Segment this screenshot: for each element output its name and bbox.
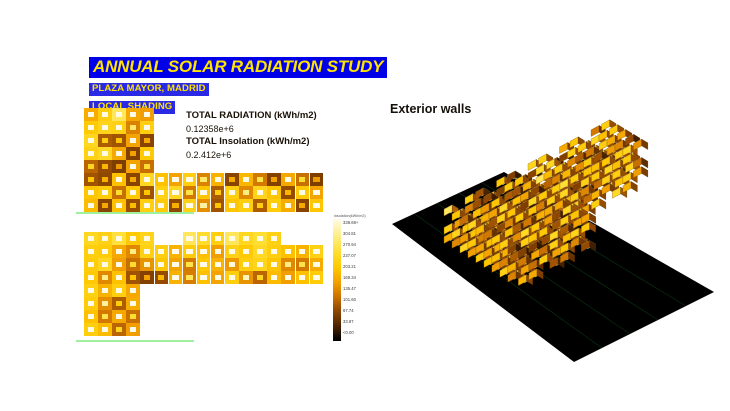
radiation-cell: [126, 232, 140, 245]
window-aperture: [186, 177, 192, 182]
window-aperture: [285, 203, 291, 208]
radiation-cell: [239, 199, 253, 212]
window-aperture: [102, 164, 108, 169]
window-aperture: [102, 177, 108, 182]
window-aperture: [200, 190, 206, 195]
radiation-cell: [84, 245, 98, 258]
window-aperture: [130, 249, 136, 254]
legend-tick-label: 270.94: [343, 243, 356, 247]
radiation-cell: [211, 186, 225, 199]
radiation-cell: [98, 160, 112, 173]
radiation-cell: [112, 297, 126, 310]
radiation-cell: [183, 199, 197, 212]
radiation-cell: [183, 258, 197, 271]
axonometric-canvas: [384, 96, 714, 366]
window-aperture: [116, 203, 122, 208]
window-aperture: [243, 177, 249, 182]
radiation-cell: [98, 258, 112, 271]
window-aperture: [257, 203, 263, 208]
window-aperture: [285, 190, 291, 195]
slide-canvas: ANNUAL SOLAR RADIATION STUDY PLAZA MAYOR…: [0, 0, 730, 411]
radiation-cell: [140, 258, 154, 271]
radiation-cell: [126, 121, 140, 134]
window-aperture: [285, 275, 291, 280]
window-aperture: [158, 275, 164, 280]
window-aperture: [88, 203, 94, 208]
window-aperture: [102, 275, 108, 280]
window-aperture: [116, 314, 122, 319]
radiation-cell: [98, 186, 112, 199]
window-aperture: [271, 177, 277, 182]
window-aperture: [102, 288, 108, 293]
radiation-cell: [126, 323, 140, 336]
radiation-cell: [112, 121, 126, 134]
radiation-cell: [112, 199, 126, 212]
window-aperture: [215, 190, 221, 195]
window-aperture: [257, 236, 263, 241]
window-aperture: [130, 262, 136, 267]
window-aperture: [88, 138, 94, 143]
radiation-cell: [98, 297, 112, 310]
radiation-cell: [225, 173, 239, 186]
window-aperture: [102, 203, 108, 208]
radiation-cell: [310, 173, 324, 186]
window-aperture: [130, 275, 136, 280]
radiation-cell: [140, 186, 154, 199]
radiation-cell: [310, 245, 324, 258]
window-aperture: [144, 164, 150, 169]
radiation-cell: [112, 147, 126, 160]
radiation-cell: [98, 310, 112, 323]
radiation-cell: [98, 323, 112, 336]
radiation-cell: [112, 173, 126, 186]
window-aperture: [116, 301, 122, 306]
radiation-cell: [84, 310, 98, 323]
window-aperture: [116, 275, 122, 280]
radiation-cell: [239, 258, 253, 271]
radiation-cell: [197, 258, 211, 271]
radiation-cell: [239, 245, 253, 258]
legend-tick-label: 135.47: [343, 287, 356, 291]
radiation-cell: [310, 271, 324, 284]
radiation-cell: [310, 199, 324, 212]
window-aperture: [144, 151, 150, 156]
radiation-cell: [84, 108, 98, 121]
radiation-cell: [211, 258, 225, 271]
radiation-cell: [225, 258, 239, 271]
window-aperture: [186, 236, 192, 241]
window-aperture: [116, 177, 122, 182]
radiation-cell: [126, 199, 140, 212]
window-aperture: [200, 236, 206, 241]
radiation-cell: [112, 108, 126, 121]
radiation-cell: [296, 258, 310, 271]
window-aperture: [172, 177, 178, 182]
radiation-cell: [296, 245, 310, 258]
window-aperture: [271, 190, 277, 195]
radiation-cell: [281, 245, 295, 258]
radiation-cell: [126, 310, 140, 323]
window-aperture: [313, 262, 319, 267]
radiation-cell: [253, 258, 267, 271]
legend-tick-label: 101.60: [343, 298, 356, 302]
radiation-cell: [267, 186, 281, 199]
radiation-cell: [225, 245, 239, 258]
window-aperture: [271, 249, 277, 254]
window-aperture: [285, 262, 291, 267]
radiation-cell: [98, 134, 112, 147]
radiation-cell: [197, 245, 211, 258]
window-aperture: [172, 249, 178, 254]
radiation-cell: [112, 232, 126, 245]
radiation-cell: [155, 173, 169, 186]
radiation-cell: [169, 258, 183, 271]
window-aperture: [158, 177, 164, 182]
radiation-cell: [84, 121, 98, 134]
radiation-cell: [169, 199, 183, 212]
window-aperture: [186, 203, 192, 208]
legend-tick-label: 169.34: [343, 276, 356, 280]
radiation-cell: [84, 258, 98, 271]
radiation-cell: [126, 186, 140, 199]
radiation-cell: [296, 173, 310, 186]
window-aperture: [285, 249, 291, 254]
axonometric-view: Exterior walls: [384, 96, 714, 366]
window-aperture: [243, 249, 249, 254]
window-aperture: [172, 275, 178, 280]
window-aperture: [130, 138, 136, 143]
radiation-cell: [155, 245, 169, 258]
legend-gradient-bar: [333, 219, 341, 341]
radiation-cell: [281, 271, 295, 284]
radiation-cell: [183, 271, 197, 284]
legend-title: insolation(kWh/m2): [334, 214, 379, 218]
window-aperture: [130, 327, 136, 332]
window-aperture: [144, 177, 150, 182]
legend-tick-label: 338.68+: [343, 221, 358, 225]
window-aperture: [229, 190, 235, 195]
radiation-cell: [126, 245, 140, 258]
radiation-cell: [140, 121, 154, 134]
legend-tick-label: 304.81: [343, 232, 356, 236]
window-aperture: [172, 203, 178, 208]
radiation-cell: [225, 271, 239, 284]
radiation-cell: [98, 147, 112, 160]
radiation-cell: [310, 258, 324, 271]
radiation-cell: [112, 310, 126, 323]
radiation-cell: [155, 186, 169, 199]
legend-tick-label: 67.74: [343, 309, 354, 313]
radiation-cell: [253, 199, 267, 212]
window-aperture: [116, 138, 122, 143]
radiation-cell: [126, 134, 140, 147]
window-aperture: [144, 112, 150, 117]
legend-tick-labels: 338.68+304.81270.94237.07203.21169.34135…: [341, 219, 377, 341]
radiation-cell: [126, 160, 140, 173]
radiation-cell: [126, 173, 140, 186]
legend-tick-label: 33.87: [343, 320, 354, 324]
window-aperture: [257, 177, 263, 182]
window-aperture: [200, 203, 206, 208]
window-aperture: [158, 190, 164, 195]
window-aperture: [116, 112, 122, 117]
radiation-cell: [140, 199, 154, 212]
window-aperture: [130, 164, 136, 169]
radiation-cell: [253, 232, 267, 245]
radiation-cell: [267, 232, 281, 245]
radiation-cell: [239, 186, 253, 199]
radiation-cell: [84, 323, 98, 336]
radiation-cell: [267, 258, 281, 271]
window-aperture: [172, 190, 178, 195]
radiation-cell: [267, 271, 281, 284]
window-aperture: [88, 177, 94, 182]
window-aperture: [313, 203, 319, 208]
radiation-cell: [140, 271, 154, 284]
window-aperture: [116, 327, 122, 332]
radiation-cell: [197, 271, 211, 284]
window-aperture: [130, 236, 136, 241]
window-aperture: [130, 151, 136, 156]
radiation-cell: [225, 186, 239, 199]
window-aperture: [200, 262, 206, 267]
window-aperture: [102, 190, 108, 195]
radiation-cell: [140, 232, 154, 245]
radiation-cell: [239, 271, 253, 284]
window-aperture: [313, 249, 319, 254]
window-aperture: [271, 236, 277, 241]
radiation-cell: [84, 160, 98, 173]
radiation-cell: [211, 232, 225, 245]
radiation-cell: [84, 199, 98, 212]
radiation-cell: [84, 186, 98, 199]
window-aperture: [130, 190, 136, 195]
window-aperture: [130, 301, 136, 306]
window-aperture: [130, 112, 136, 117]
radiation-cell: [155, 258, 169, 271]
radiation-cell: [281, 258, 295, 271]
legend-tick-label: 237.07: [343, 254, 356, 258]
window-aperture: [271, 203, 277, 208]
window-aperture: [88, 249, 94, 254]
window-aperture: [144, 125, 150, 130]
window-aperture: [200, 177, 206, 182]
window-aperture: [88, 314, 94, 319]
window-aperture: [200, 249, 206, 254]
radiation-cell: [253, 186, 267, 199]
radiation-cell: [225, 232, 239, 245]
radiation-cell: [281, 173, 295, 186]
radiation-cell: [253, 173, 267, 186]
radiation-cell: [112, 186, 126, 199]
radiation-cell: [84, 173, 98, 186]
window-aperture: [271, 275, 277, 280]
legend-tick-label: <0.00: [343, 331, 354, 335]
window-aperture: [158, 249, 164, 254]
radiation-cell: [98, 108, 112, 121]
radiation-cell: [112, 134, 126, 147]
window-aperture: [257, 275, 263, 280]
radiation-cell: [267, 173, 281, 186]
window-aperture: [88, 262, 94, 267]
window-aperture: [172, 262, 178, 267]
window-aperture: [229, 236, 235, 241]
radiation-cell: [183, 232, 197, 245]
baseline-upper: [76, 212, 194, 214]
window-aperture: [313, 177, 319, 182]
window-aperture: [102, 327, 108, 332]
radiation-cell: [155, 199, 169, 212]
elevation-panel-upper: [84, 108, 324, 212]
radiation-cell: [98, 173, 112, 186]
radiation-cell: [253, 271, 267, 284]
radiation-cell: [98, 199, 112, 212]
radiation-cell: [253, 245, 267, 258]
window-aperture: [116, 125, 122, 130]
window-aperture: [200, 275, 206, 280]
window-aperture: [299, 249, 305, 254]
radiation-cell: [140, 108, 154, 121]
window-aperture: [299, 203, 305, 208]
window-aperture: [229, 177, 235, 182]
radiation-cell: [267, 199, 281, 212]
radiation-cell: [169, 271, 183, 284]
window-aperture: [88, 164, 94, 169]
window-aperture: [116, 249, 122, 254]
baseline-lower: [76, 340, 194, 342]
window-aperture: [88, 301, 94, 306]
radiation-cell: [310, 186, 324, 199]
radiation-cell: [281, 186, 295, 199]
window-aperture: [130, 203, 136, 208]
radiation-cell: [169, 186, 183, 199]
window-aperture: [229, 262, 235, 267]
window-aperture: [186, 190, 192, 195]
window-aperture: [186, 262, 192, 267]
radiation-cell: [197, 232, 211, 245]
radiation-cell: [98, 271, 112, 284]
window-aperture: [299, 177, 305, 182]
window-aperture: [257, 190, 263, 195]
radiation-cell: [126, 297, 140, 310]
radiation-cell: [84, 134, 98, 147]
radiation-cell: [84, 147, 98, 160]
radiation-cell: [126, 284, 140, 297]
window-aperture: [144, 138, 150, 143]
window-aperture: [130, 125, 136, 130]
radiation-cell: [239, 173, 253, 186]
radiation-cell: [84, 297, 98, 310]
radiation-cell: [112, 323, 126, 336]
window-aperture: [102, 138, 108, 143]
radiation-cell: [211, 199, 225, 212]
window-aperture: [186, 249, 192, 254]
window-aperture: [299, 262, 305, 267]
radiation-cell: [140, 134, 154, 147]
radiation-cell: [84, 271, 98, 284]
window-aperture: [144, 262, 150, 267]
radiation-cell: [155, 271, 169, 284]
window-aperture: [102, 314, 108, 319]
radiation-cell: [296, 271, 310, 284]
window-aperture: [243, 203, 249, 208]
window-aperture: [116, 262, 122, 267]
window-aperture: [243, 262, 249, 267]
radiation-cell: [98, 245, 112, 258]
window-aperture: [88, 275, 94, 280]
elevation-panel-lower: [84, 232, 324, 336]
radiation-cell: [239, 232, 253, 245]
window-aperture: [215, 177, 221, 182]
window-aperture: [299, 190, 305, 195]
window-aperture: [102, 112, 108, 117]
window-aperture: [88, 190, 94, 195]
window-aperture: [313, 275, 319, 280]
window-aperture: [257, 262, 263, 267]
window-aperture: [215, 249, 221, 254]
window-aperture: [158, 262, 164, 267]
window-aperture: [229, 203, 235, 208]
window-aperture: [299, 275, 305, 280]
radiation-cell: [112, 258, 126, 271]
insolation-legend: insolation(kWh/m2) 338.68+304.81270.9423…: [333, 214, 379, 341]
window-aperture: [102, 301, 108, 306]
radiation-cell: [197, 173, 211, 186]
window-aperture: [102, 125, 108, 130]
radiation-cell: [98, 284, 112, 297]
window-aperture: [186, 275, 192, 280]
radiation-cell: [140, 173, 154, 186]
window-aperture: [144, 190, 150, 195]
window-aperture: [88, 288, 94, 293]
title-block: ANNUAL SOLAR RADIATION STUDY PLAZA MAYOR…: [89, 57, 387, 114]
radiation-cell: [84, 232, 98, 245]
radiation-cell: [140, 147, 154, 160]
radiation-cell: [140, 245, 154, 258]
radiation-cell: [211, 245, 225, 258]
window-aperture: [116, 151, 122, 156]
window-aperture: [116, 190, 122, 195]
window-aperture: [215, 275, 221, 280]
window-aperture: [144, 203, 150, 208]
radiation-cell: [197, 186, 211, 199]
radiation-cell: [126, 108, 140, 121]
radiation-cell: [98, 232, 112, 245]
window-aperture: [215, 203, 221, 208]
radiation-cell: [225, 199, 239, 212]
window-aperture: [313, 190, 319, 195]
page-title: ANNUAL SOLAR RADIATION STUDY: [89, 57, 387, 78]
window-aperture: [116, 236, 122, 241]
window-aperture: [158, 203, 164, 208]
legend-tick-label: 203.21: [343, 265, 356, 269]
radiation-cell: [267, 245, 281, 258]
radiation-cell: [296, 186, 310, 199]
radiation-cell: [169, 173, 183, 186]
window-aperture: [102, 236, 108, 241]
window-aperture: [102, 249, 108, 254]
radiation-cell: [140, 160, 154, 173]
window-aperture: [130, 314, 136, 319]
window-aperture: [243, 236, 249, 241]
radiation-cell: [281, 199, 295, 212]
window-aperture: [116, 288, 122, 293]
radiation-cell: [296, 199, 310, 212]
radiation-cell: [183, 186, 197, 199]
window-aperture: [102, 262, 108, 267]
window-aperture: [88, 327, 94, 332]
window-aperture: [215, 236, 221, 241]
